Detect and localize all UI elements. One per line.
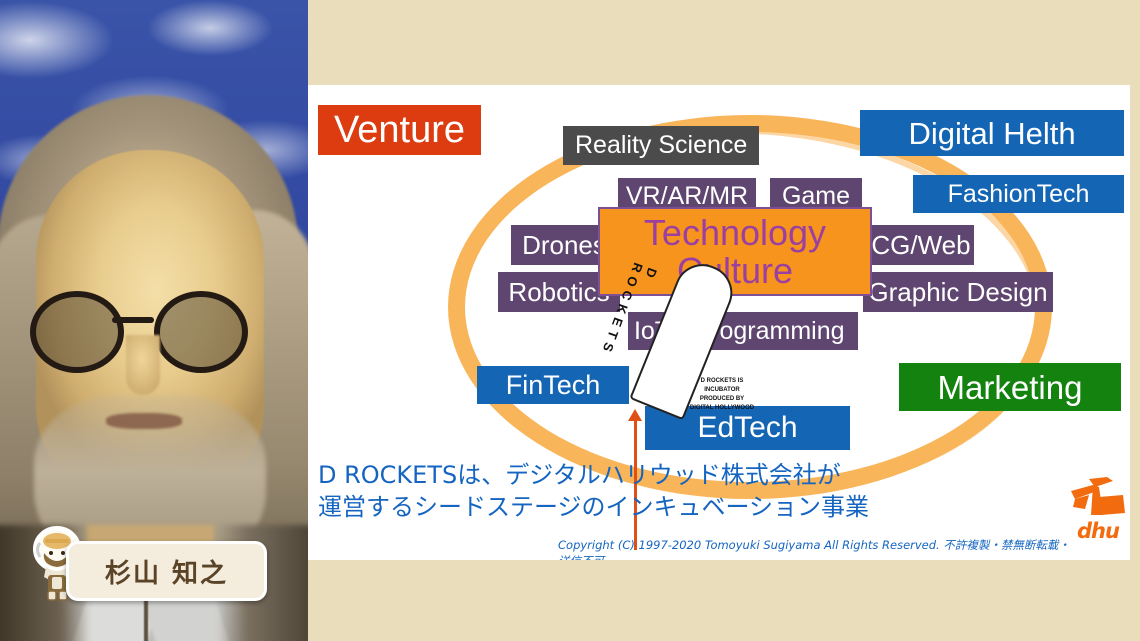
- eyeglass-right-icon: [154, 291, 248, 373]
- tag-label: Drones: [522, 232, 606, 258]
- tag-label: Digital Helth: [908, 118, 1075, 149]
- tag-label: FinTech: [506, 372, 601, 399]
- dhu-logo: dhu: [1063, 475, 1130, 541]
- d-rockets-illustration: D ROCKETS D ROCKETS IS INCUBATOR PRODUCE…: [626, 253, 746, 428]
- tag-label: Venture: [334, 111, 465, 149]
- speaker-nameplate: 杉山 知之: [66, 541, 267, 601]
- tag-label: Graphic Design: [868, 279, 1047, 305]
- tag-label: Marketing: [938, 371, 1083, 404]
- speaker-name: 杉山 知之: [105, 553, 228, 590]
- tag-marketing: Marketing: [899, 363, 1121, 411]
- caption-line2: 運営するシードステージのインキュベーション事業: [318, 491, 918, 523]
- eyeglass-left-icon: [30, 291, 124, 373]
- tag-label: Robotics: [508, 279, 609, 305]
- eyeglass-bridge: [112, 317, 154, 323]
- rocket-note-line4: DIGITAL HOLLYWOOD: [688, 404, 756, 413]
- tag-digital-helth: Digital Helth: [860, 110, 1124, 156]
- tag-venture: Venture: [318, 105, 481, 155]
- tag-label: CG/Web: [871, 232, 970, 258]
- annotation-arrow-head-icon: [628, 409, 642, 421]
- tag-label: VR/AR/MR: [626, 184, 748, 209]
- tag-reality-science: Reality Science: [563, 126, 759, 165]
- tag-cg-web: CG/Web: [868, 225, 974, 265]
- center-line1: Technology: [644, 214, 826, 251]
- presentation-slide[interactable]: Venture Reality Science Digital Helth Fa…: [308, 85, 1130, 560]
- webcam-video-panel[interactable]: 杉山 知之: [0, 0, 308, 641]
- tag-fintech: FinTech: [477, 366, 629, 404]
- dhu-mark-icon: [1063, 475, 1130, 525]
- rocket-note-line1: D ROCKETS IS: [688, 377, 756, 386]
- tag-fashiontech: FashionTech: [913, 175, 1124, 213]
- tag-graphic-design: Graphic Design: [863, 272, 1053, 312]
- tag-label: FashionTech: [948, 182, 1090, 207]
- rocket-note-line3: PRODUCED BY: [688, 395, 756, 404]
- rocket-note-line2: INCUBATOR: [688, 386, 756, 395]
- tag-label: Reality Science: [575, 133, 747, 158]
- nose: [126, 335, 160, 395]
- copyright-notice: Copyright (C) 1997-2020 Tomoyuki Sugiyam…: [558, 537, 1078, 560]
- screen-root: 杉山 知之 Venture Reality Science Digital He…: [0, 0, 1140, 641]
- rocket-note: D ROCKETS IS INCUBATOR PRODUCED BY DIGIT…: [688, 377, 756, 413]
- dhu-wordmark: dhu: [1077, 519, 1119, 543]
- mouth: [106, 413, 182, 429]
- slide-caption: D ROCKETSは、デジタルハリウッド株式会社が 運営するシードステージのイン…: [318, 459, 918, 524]
- tag-label: Game: [782, 184, 850, 209]
- caption-line1: D ROCKETSは、デジタルハリウッド株式会社が: [318, 459, 918, 491]
